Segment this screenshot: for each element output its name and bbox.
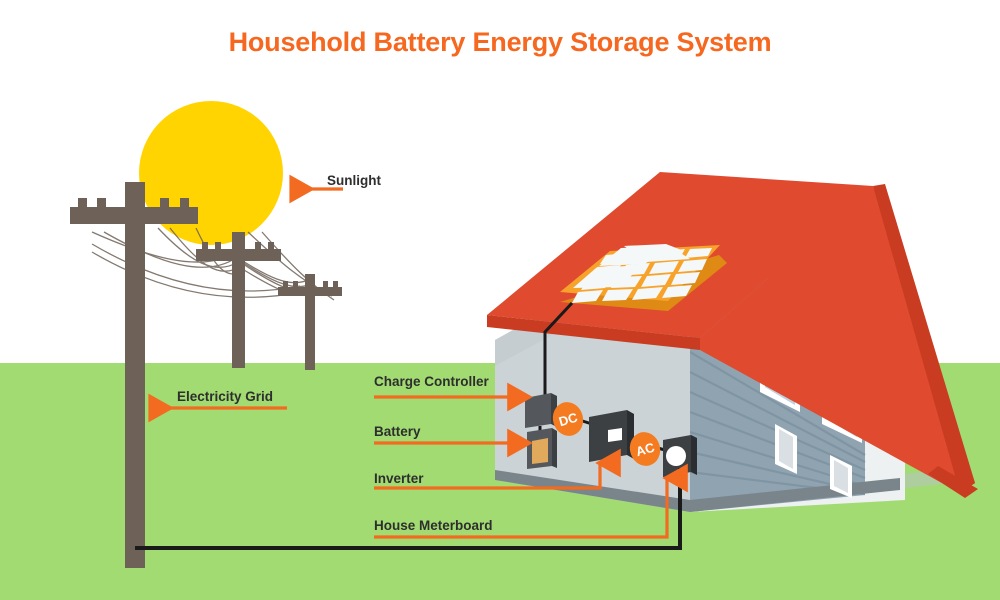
label-sunlight: Sunlight [327,173,381,188]
label-battery: Battery [374,424,421,439]
charge-controller-device [525,393,557,428]
label-inverter: Inverter [374,471,424,486]
utility-pole-3 [278,274,342,370]
label-house-meterboard: House Meterboard [374,518,493,533]
diagram-canvas: DC AC Household [0,0,1000,600]
label-charge-controller: Charge Controller [374,374,489,389]
label-electricity-grid: Electricity Grid [177,389,273,404]
inverter-device [589,410,634,462]
utility-pole-2 [196,232,281,368]
battery-device [527,428,557,469]
house: DC AC [487,172,978,512]
scene-illustration: DC AC [0,0,1000,600]
page-title: Household Battery Energy Storage System [0,27,1000,58]
